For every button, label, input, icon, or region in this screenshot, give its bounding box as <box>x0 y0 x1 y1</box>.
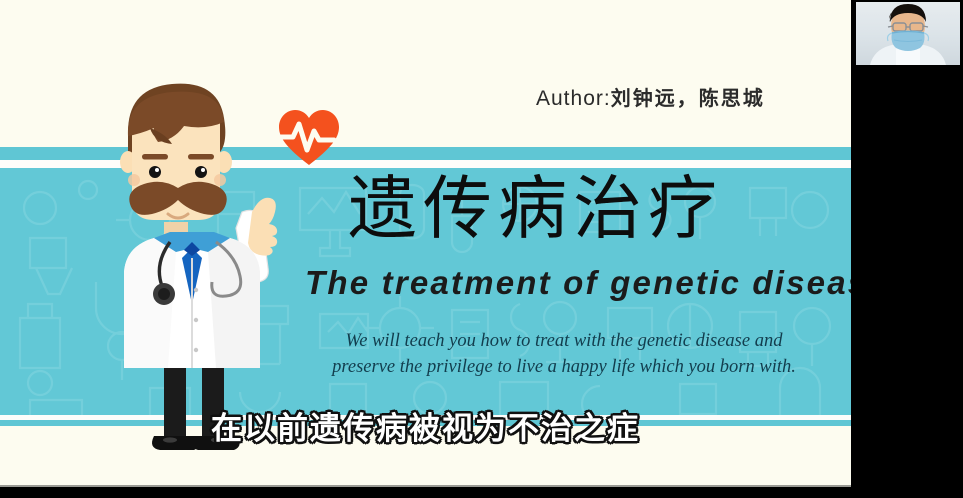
video-subtitle-caption: 在以前遗传病被视为不治之症 <box>0 403 851 448</box>
presenter-webcam-thumbnail[interactable] <box>852 0 963 68</box>
slide-description: We will teach you how to treat with the … <box>318 328 810 381</box>
author-names: 刘钟远，陈思城 <box>611 86 765 110</box>
slide-description-line-2: preserve the privilege to live a happy l… <box>318 354 810 380</box>
author-line: Author:刘钟远，陈思城 <box>536 82 765 111</box>
webcam-video-feed[interactable] <box>856 2 960 65</box>
slide-description-line-1: We will teach you how to treat with the … <box>318 328 810 354</box>
screen-share-view: Author:刘钟远，陈思城 遗传病治疗 The treatment of ge… <box>0 0 963 498</box>
presentation-slide: Author:刘钟远，陈思城 遗传病治疗 The treatment of ge… <box>0 0 851 487</box>
slide-title-english: The treatment of genetic disease <box>305 264 851 302</box>
bottom-letterbox <box>0 487 963 498</box>
cartoon-doctor-illustration <box>92 62 292 452</box>
author-prefix: Author: <box>536 87 611 110</box>
slide-title-chinese: 遗传病治疗 <box>348 175 723 244</box>
right-letterbox <box>851 0 963 498</box>
webcam-person-figure <box>856 2 960 65</box>
